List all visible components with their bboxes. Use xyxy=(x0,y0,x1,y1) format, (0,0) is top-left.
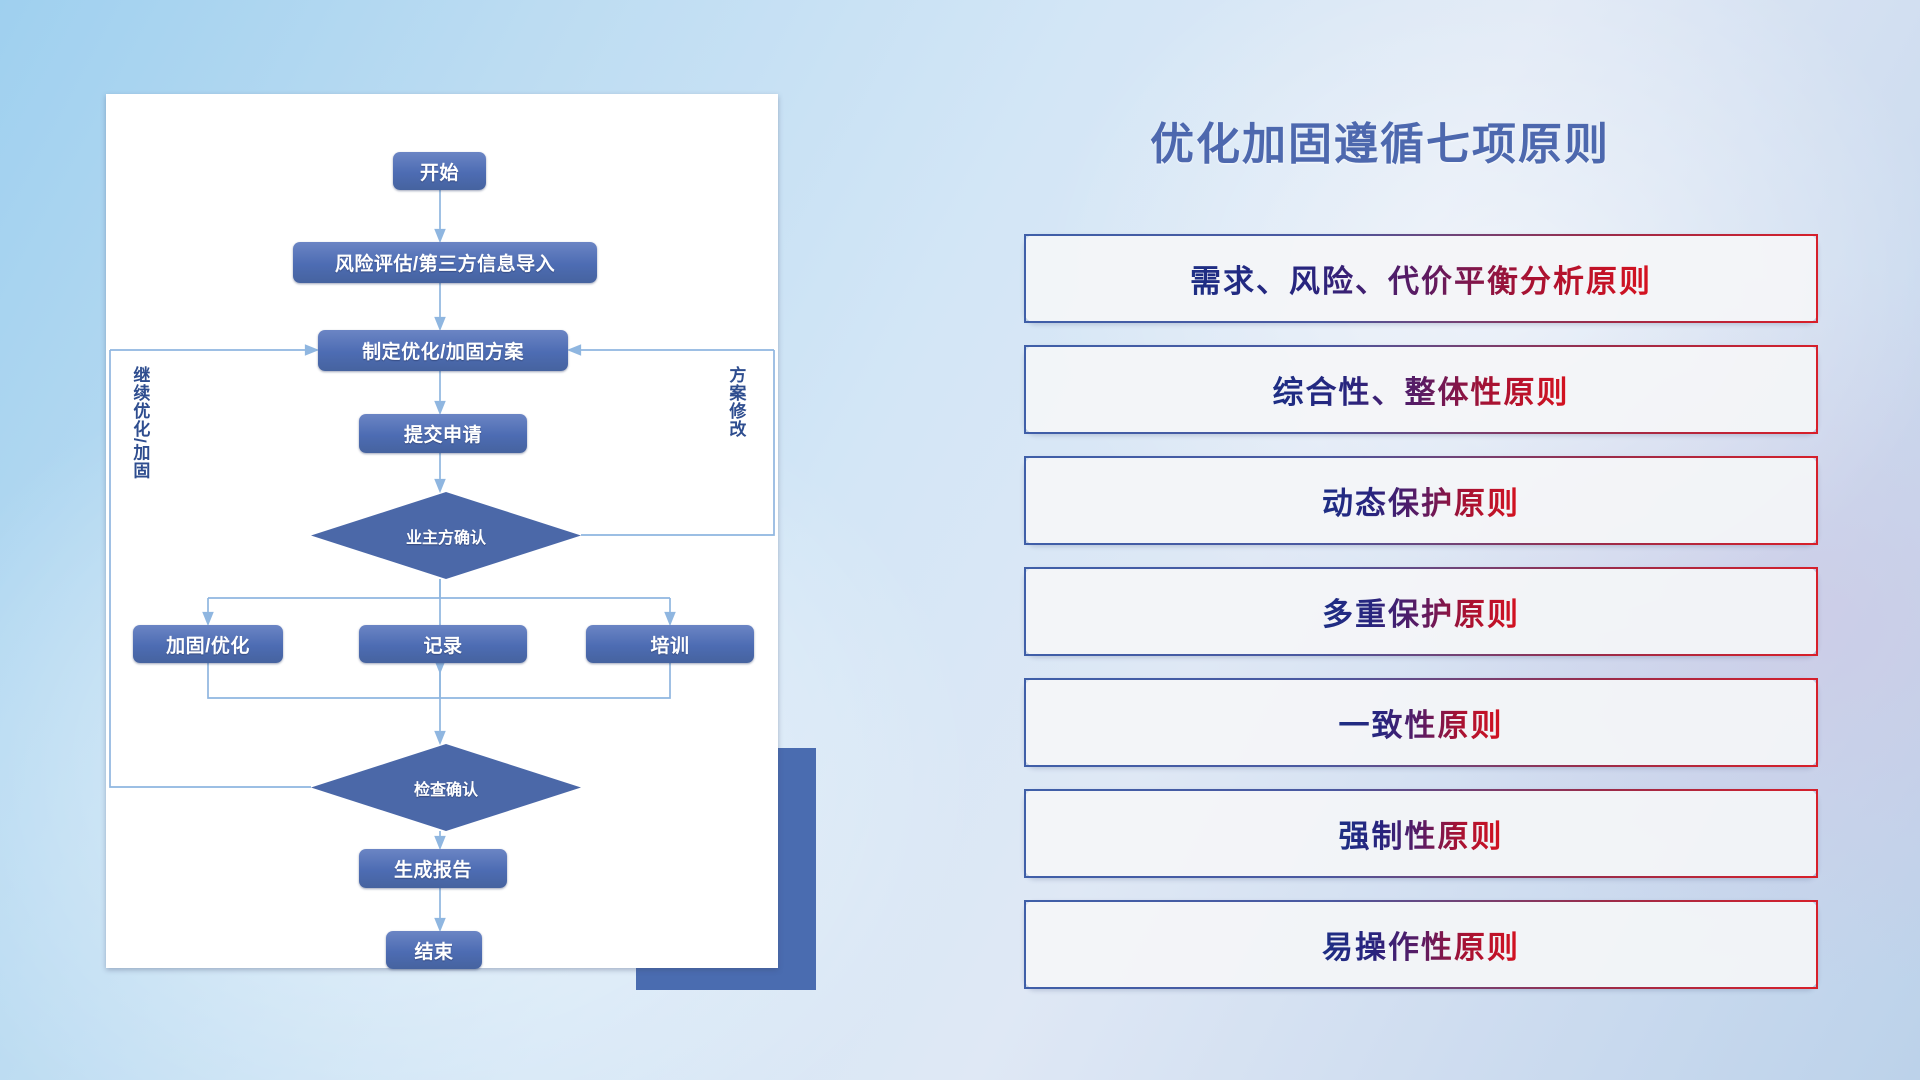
panel-title: 优化加固遵循七项原则 xyxy=(1150,108,1610,172)
principle-label: 多重保护原则 xyxy=(1322,589,1520,634)
principle-label: 一致性原则 xyxy=(1339,700,1504,745)
principle-label: 动态保护原则 xyxy=(1322,478,1520,523)
flowchart-card: 开始 风险评估/第三方信息导入 制定优化/加固方案 提交申请 业主方确认 加固/… xyxy=(106,94,778,968)
flow-node-record[interactable]: 记录 xyxy=(359,625,527,663)
flowchart: 开始 风险评估/第三方信息导入 制定优化/加固方案 提交申请 业主方确认 加固/… xyxy=(106,94,778,968)
principle-item-1[interactable]: 需求、风险、代价平衡分析原则 xyxy=(1024,234,1818,323)
principles-panel: 优化加固遵循七项原则 需求、风险、代价平衡分析原则 综合性、整体性原则 动态保护… xyxy=(1020,90,1830,1020)
flow-node-start[interactable]: 开始 xyxy=(393,152,486,190)
principle-label: 易操作性原则 xyxy=(1322,922,1520,967)
principle-label: 强制性原则 xyxy=(1339,811,1504,856)
principle-label: 综合性、整体性原则 xyxy=(1273,367,1570,412)
principle-item-7[interactable]: 易操作性原则 xyxy=(1024,900,1818,989)
flow-node-risk[interactable]: 风险评估/第三方信息导入 xyxy=(293,242,597,283)
principle-item-5[interactable]: 一致性原则 xyxy=(1024,678,1818,767)
flow-node-reinforce[interactable]: 加固/优化 xyxy=(133,625,283,663)
flow-node-report[interactable]: 生成报告 xyxy=(359,849,507,888)
principle-item-3[interactable]: 动态保护原则 xyxy=(1024,456,1818,545)
principle-item-4[interactable]: 多重保护原则 xyxy=(1024,567,1818,656)
flow-node-submit[interactable]: 提交申请 xyxy=(359,414,527,453)
flow-node-end[interactable]: 结束 xyxy=(386,931,482,969)
principle-item-6[interactable]: 强制性原则 xyxy=(1024,789,1818,878)
flow-edge-label-right: 方案修改 xyxy=(726,366,744,438)
principle-label: 需求、风险、代价平衡分析原则 xyxy=(1190,256,1652,301)
flow-node-plan[interactable]: 制定优化/加固方案 xyxy=(318,330,568,371)
flow-edge-label-left: 继续优化/加固 xyxy=(130,366,148,480)
principle-item-2[interactable]: 综合性、整体性原则 xyxy=(1024,345,1818,434)
slide-canvas: 开始 风险评估/第三方信息导入 制定优化/加固方案 提交申请 业主方确认 加固/… xyxy=(0,0,1920,1080)
flow-node-training[interactable]: 培训 xyxy=(586,625,754,663)
